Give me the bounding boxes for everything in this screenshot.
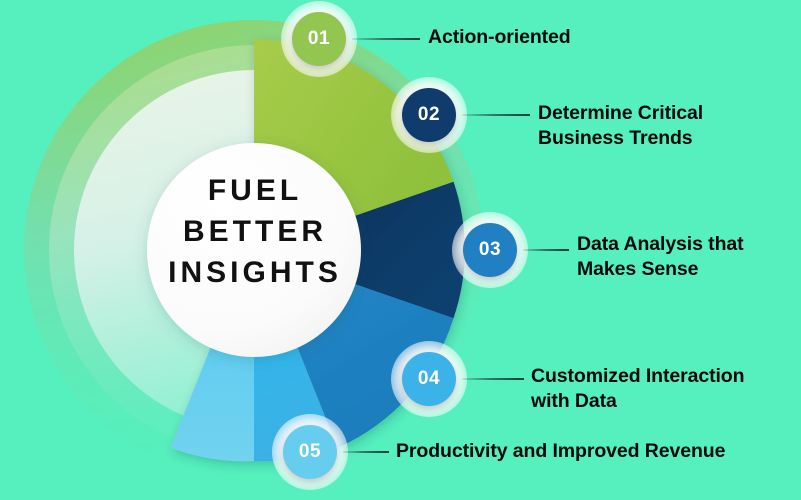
badge-03-number: 03 <box>479 239 501 261</box>
badge-03[interactable]: 03 <box>463 223 517 277</box>
badge-05-number: 05 <box>299 441 321 463</box>
badge-02[interactable]: 02 <box>402 88 456 142</box>
badge-04[interactable]: 04 <box>402 352 456 406</box>
label-04: Customized Interaction with Data <box>531 364 744 414</box>
label-04-line-2: with Data <box>531 389 744 414</box>
badge-01-number: 01 <box>308 28 330 50</box>
connector-02 <box>462 114 530 116</box>
label-01: Action-oriented <box>428 25 571 50</box>
connector-04 <box>462 378 524 380</box>
label-02-line-2: Business Trends <box>538 126 703 151</box>
badge-04-number: 04 <box>418 368 440 390</box>
label-03-line-1: Data Analysis that <box>577 232 744 257</box>
label-01-line-1: Action-oriented <box>428 25 571 50</box>
center-hub <box>147 143 361 357</box>
label-03: Data Analysis that Makes Sense <box>577 232 744 282</box>
label-02-line-1: Determine Critical <box>538 101 703 126</box>
label-04-line-1: Customized Interaction <box>531 364 744 389</box>
badge-02-number: 02 <box>418 104 440 126</box>
badge-01[interactable]: 01 <box>292 12 346 66</box>
label-02: Determine Critical Business Trends <box>538 101 703 151</box>
label-05: Productivity and Improved Revenue <box>396 439 725 464</box>
connector-01 <box>352 38 420 40</box>
label-03-line-2: Makes Sense <box>577 257 744 282</box>
connector-05 <box>343 451 389 453</box>
label-05-line-1: Productivity and Improved Revenue <box>396 439 725 464</box>
infographic-canvas: FUEL BETTER INSIGHTS 01 Action-oriented … <box>0 0 801 500</box>
connector-03 <box>523 249 569 251</box>
badge-05[interactable]: 05 <box>283 425 337 479</box>
